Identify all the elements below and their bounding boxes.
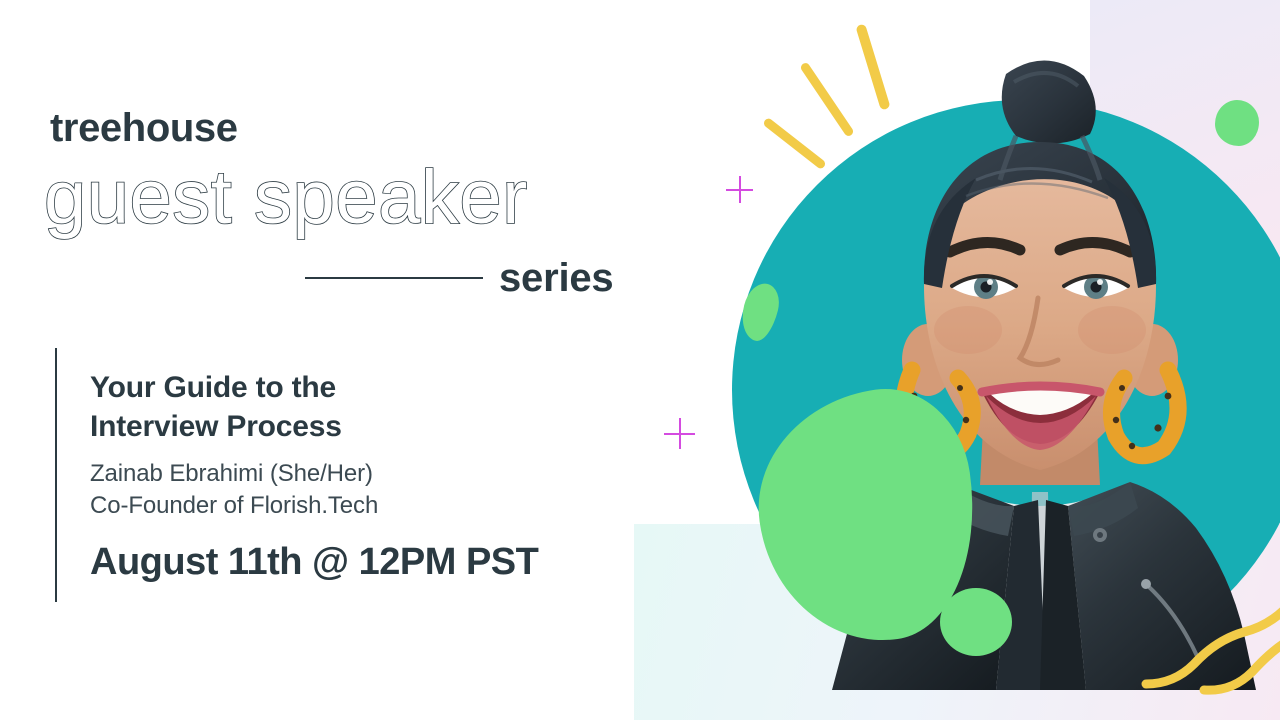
promo-graphic: treehouse guest speaker series Your Guid… — [0, 0, 1280, 720]
accent-vertical-rule — [55, 348, 57, 602]
event-title: Your Guide to the Interview Process — [90, 368, 650, 446]
yellow-wavy-lines-icon — [1140, 580, 1280, 700]
series-divider-rule — [305, 277, 483, 279]
magenta-plus-icon-2 — [664, 418, 695, 449]
event-title-line-2: Interview Process — [90, 410, 342, 443]
green-circle-blob-icon — [940, 588, 1012, 656]
speaker-name: Zainab Ebrahimi (She/Her) — [90, 458, 650, 490]
speaker-role: Co-Founder of Florish.Tech — [90, 490, 650, 522]
headline-outline-text: guest speaker — [44, 160, 528, 236]
event-date-time: August 11th @ 12PM PST — [90, 543, 650, 581]
event-info-block: Your Guide to the Interview Process Zain… — [90, 368, 650, 581]
brand-wordmark: treehouse — [50, 108, 238, 148]
series-row: series — [305, 258, 613, 298]
series-label: series — [499, 258, 613, 298]
magenta-plus-icon-1 — [726, 176, 753, 203]
event-title-line-1: Your Guide to the — [90, 371, 336, 404]
